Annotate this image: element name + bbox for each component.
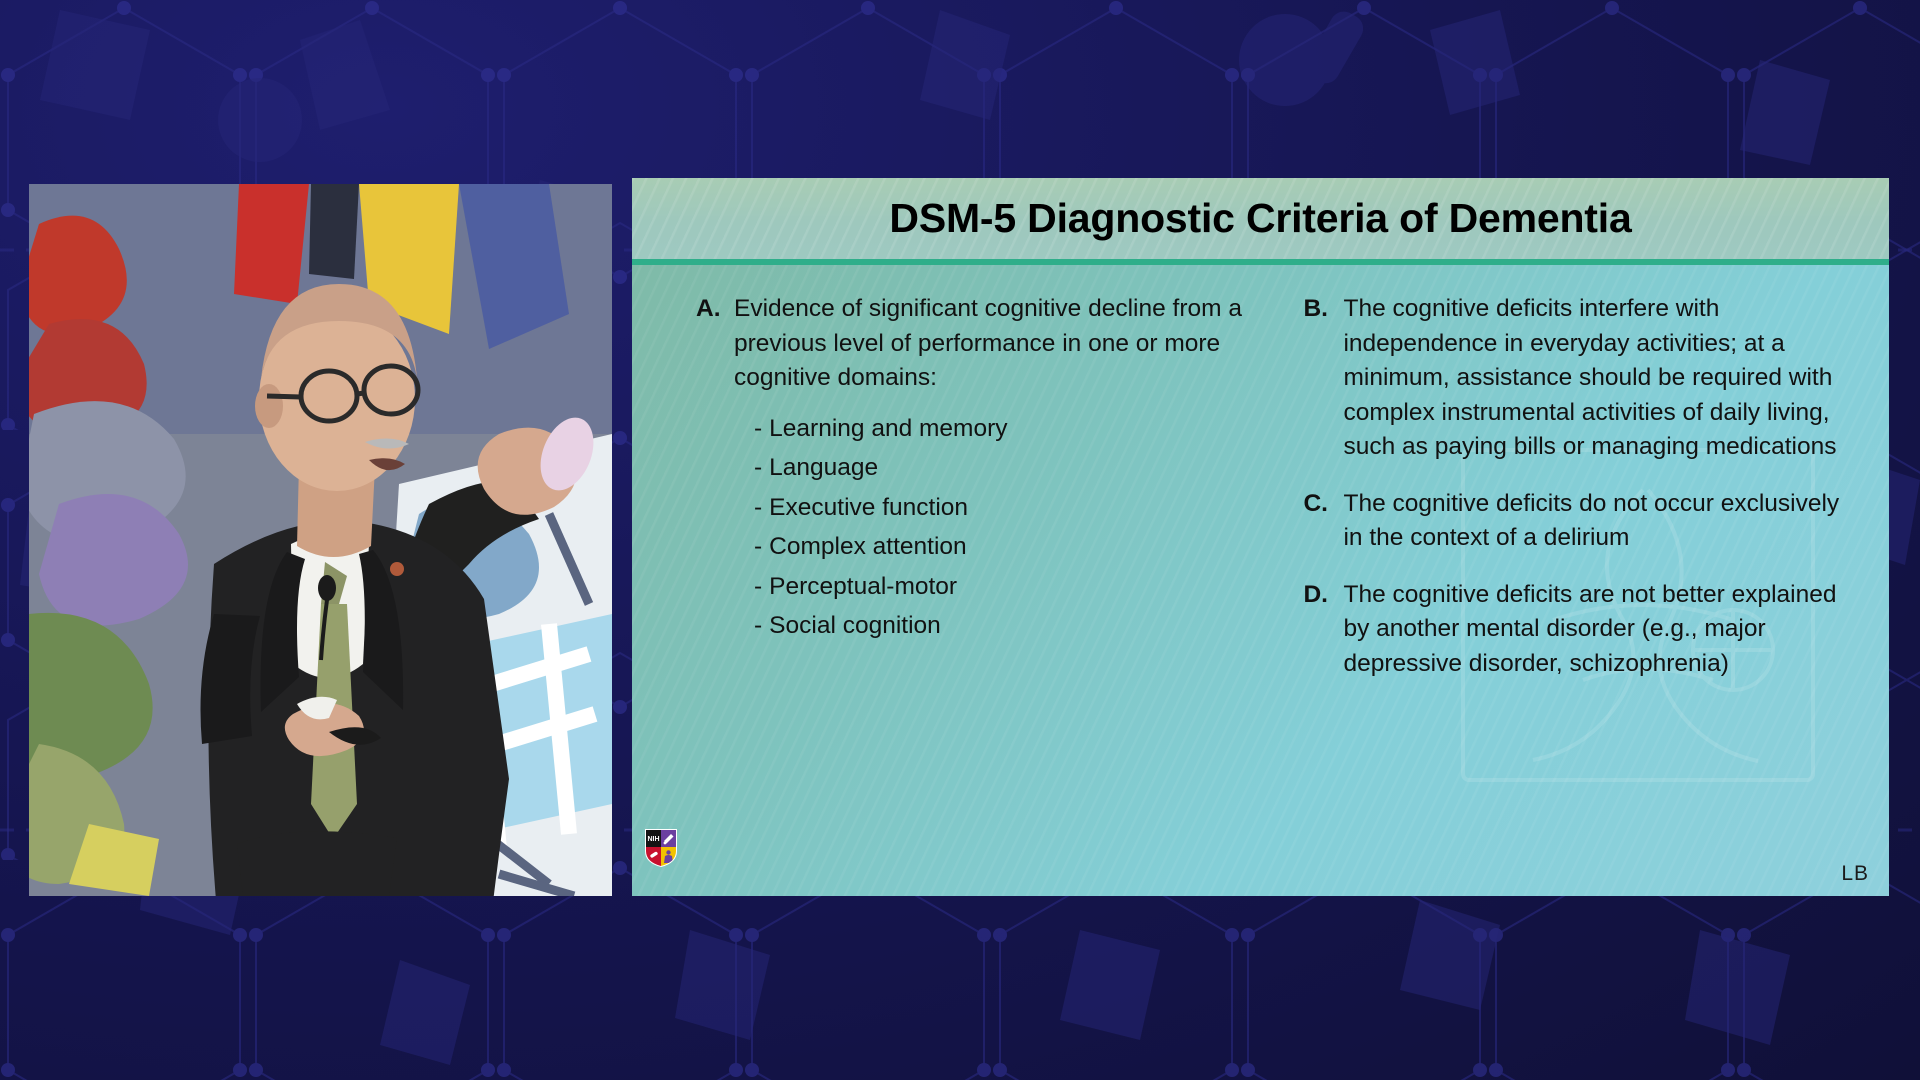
presenter-initials-watermark: LB bbox=[1841, 862, 1869, 886]
domain-label: Perceptual-motor bbox=[769, 573, 957, 600]
domain-label: Language bbox=[769, 454, 878, 481]
nih-crest-logo-icon: NIH bbox=[644, 828, 678, 868]
bullet-dash: - bbox=[754, 415, 762, 442]
list-item: -Perceptual-motor bbox=[754, 567, 1281, 607]
list-item: -Language bbox=[754, 448, 1281, 488]
slide-body: A. Evidence of significant cognitive dec… bbox=[632, 271, 1889, 896]
bullet-dash: - bbox=[754, 454, 762, 481]
cognitive-domains-list: -Learning and memory -Language -Executiv… bbox=[696, 409, 1281, 646]
presentation-slide: DSM-5 Diagnostic Criteria of Dementia A.… bbox=[632, 178, 1889, 896]
criteria-column-right: B. The cognitive deficits interfere with… bbox=[1281, 292, 1859, 896]
list-item: -Learning and memory bbox=[754, 409, 1281, 449]
domain-label: Executive function bbox=[769, 494, 968, 521]
bullet-dash: - bbox=[754, 573, 762, 600]
criterion-a-text: Evidence of significant cognitive declin… bbox=[734, 292, 1281, 396]
list-item: -Executive function bbox=[754, 488, 1281, 528]
domain-label: Social cognition bbox=[769, 612, 941, 639]
criterion-b-letter: B. bbox=[1303, 292, 1343, 465]
criterion-c-text: The cognitive deficits do not occur excl… bbox=[1343, 487, 1859, 556]
list-item: -Complex attention bbox=[754, 527, 1281, 567]
criterion-b-text: The cognitive deficits interfere with in… bbox=[1343, 292, 1859, 465]
page-title: DSM-5 Diagnostic Criteria of Dementia bbox=[632, 178, 1889, 259]
bullet-dash: - bbox=[754, 612, 762, 639]
criteria-column-left: A. Evidence of significant cognitive dec… bbox=[662, 292, 1281, 896]
svg-text:NIH: NIH bbox=[647, 836, 659, 843]
speaker-video-feed bbox=[29, 184, 612, 896]
criterion-c: C. The cognitive deficits do not occur e… bbox=[1303, 487, 1859, 556]
criterion-d-letter: D. bbox=[1303, 578, 1343, 682]
speaker-photo bbox=[29, 184, 612, 896]
criterion-a: A. Evidence of significant cognitive dec… bbox=[696, 292, 1281, 396]
slide-title-band: DSM-5 Diagnostic Criteria of Dementia bbox=[632, 178, 1889, 265]
criterion-a-letter: A. bbox=[696, 292, 734, 396]
bullet-dash: - bbox=[754, 494, 762, 521]
list-item: -Social cognition bbox=[754, 606, 1281, 646]
domain-label: Complex attention bbox=[769, 533, 966, 560]
criterion-b: B. The cognitive deficits interfere with… bbox=[1303, 292, 1859, 465]
domain-label: Learning and memory bbox=[769, 415, 1007, 442]
criterion-c-letter: C. bbox=[1303, 487, 1343, 556]
criterion-d-text: The cognitive deficits are not better ex… bbox=[1343, 578, 1859, 682]
criterion-d: D. The cognitive deficits are not better… bbox=[1303, 578, 1859, 682]
presentation-stage: DSM-5 Diagnostic Criteria of Dementia A.… bbox=[0, 0, 1920, 1080]
bullet-dash: - bbox=[754, 533, 762, 560]
